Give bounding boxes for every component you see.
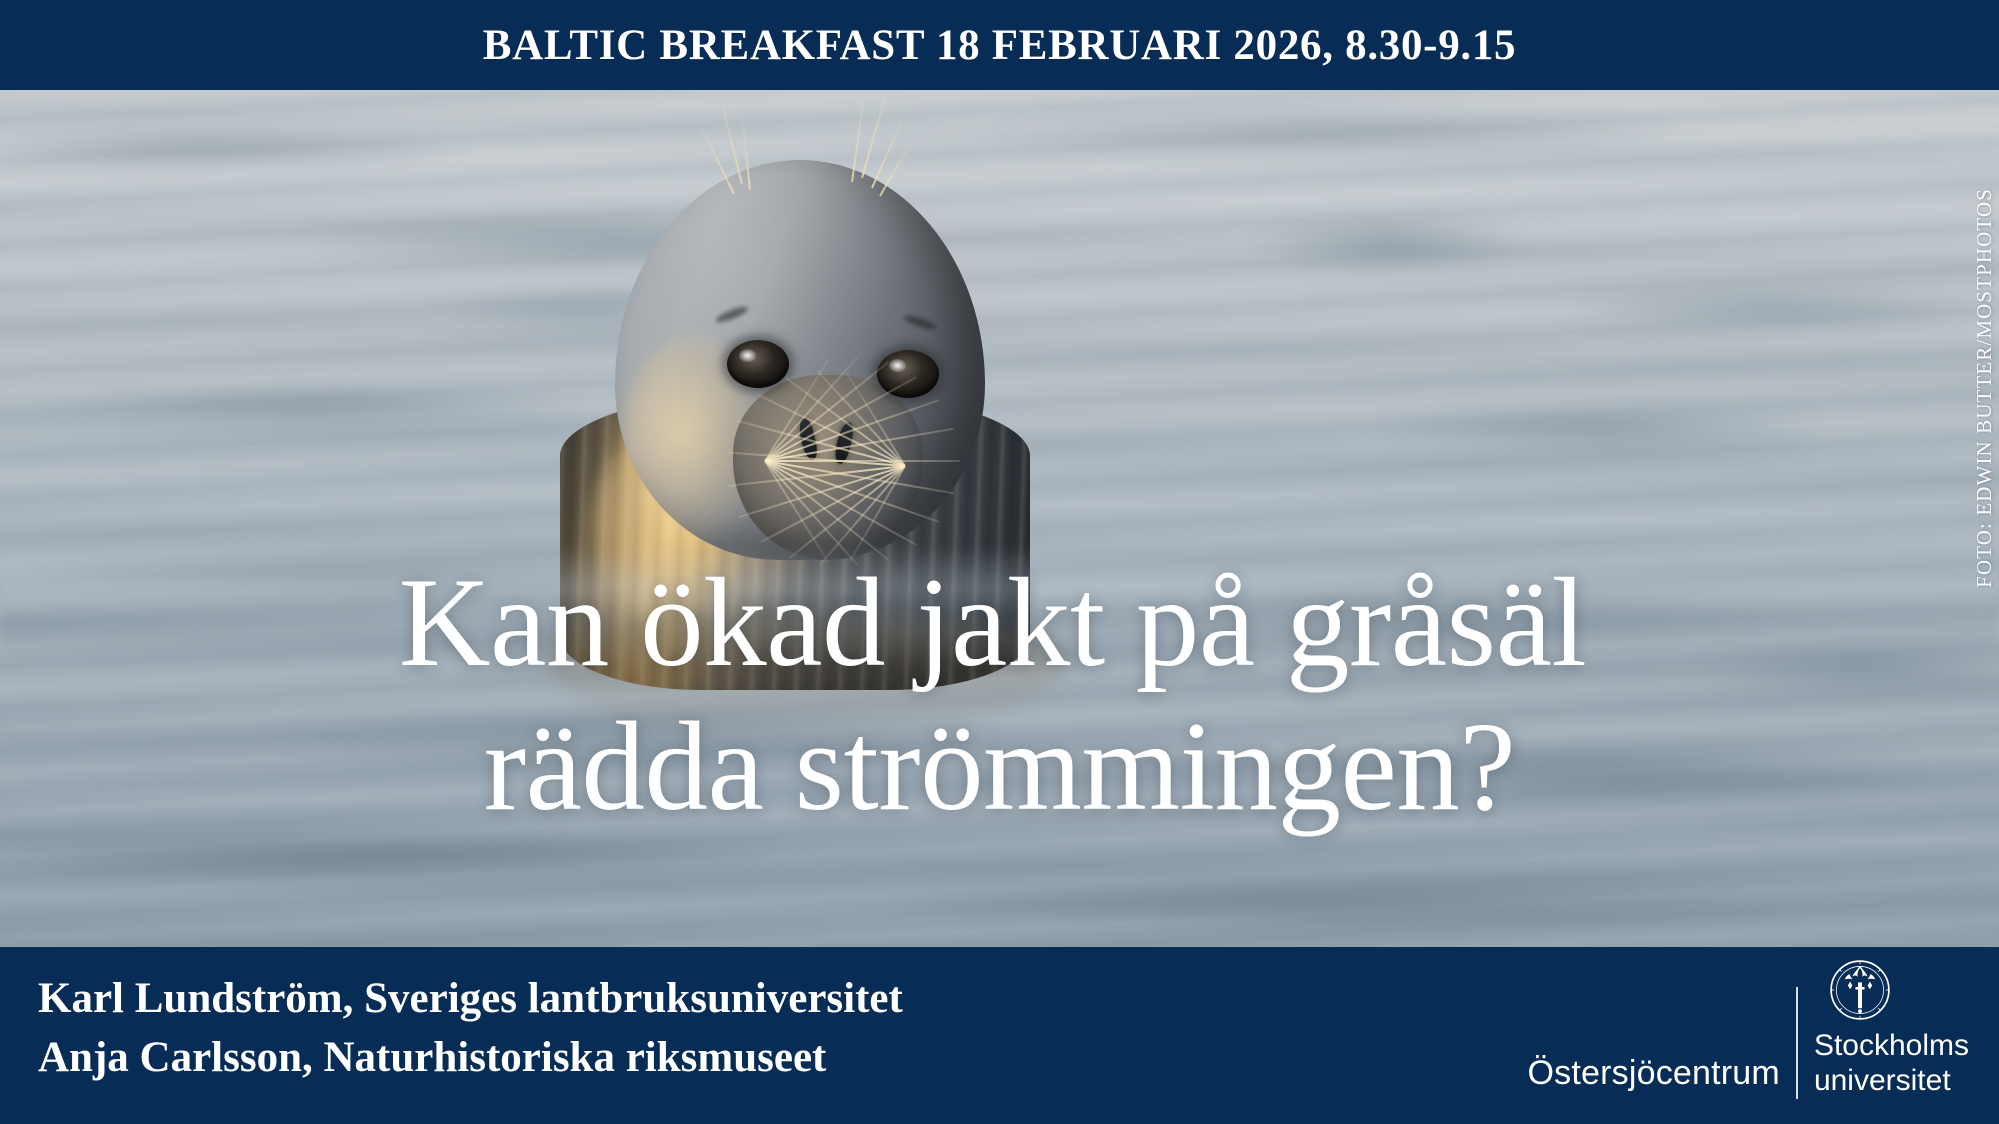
seal-head-hair — [879, 144, 911, 197]
seal-eye-left — [727, 340, 789, 388]
event-header-bar: BALTIC BREAKFAST 18 FEBRUARI 2026, 8.30-… — [0, 0, 1999, 90]
seal-head-hair — [742, 120, 751, 190]
water-wave-trough — [1380, 410, 1820, 448]
seal-head-hair — [861, 90, 890, 178]
ostersjocentrum-wordmark: Östersjöcentrum — [1528, 1054, 1780, 1105]
university-name-line-2: universitet — [1814, 1065, 1951, 1097]
seal-eye-right — [877, 350, 939, 398]
photo-credit-text: FOTO: EDWIN BUTTER/MOSTPHOTOS — [1972, 188, 1997, 588]
speaker-item: Anja Carlsson, Naturhistoriska riksmusee… — [38, 1028, 903, 1087]
university-name-line-1: Stockholms — [1814, 1030, 1969, 1062]
water-wave-trough — [980, 110, 1680, 148]
seal-eye-glint — [889, 359, 906, 372]
university-seal-icon — [1822, 952, 1898, 1028]
seal-brow-left — [715, 304, 750, 325]
logo-group: Östersjöcentrum — [1528, 965, 1969, 1105]
photo-credit: FOTO: EDWIN BUTTER/MOSTPHOTOS — [1972, 188, 1997, 588]
page-title: Kan ökad jakt på gråsäl rädda strömminge… — [0, 552, 1999, 839]
seal-eye-glint — [739, 349, 756, 362]
event-header-text: BALTIC BREAKFAST 18 FEBRUARI 2026, 8.30-… — [483, 21, 1517, 70]
speaker-item: Karl Lundström, Sveriges lantbruksuniver… — [38, 969, 903, 1028]
logo-divider — [1796, 987, 1798, 1099]
hero-photo: Kan ökad jakt på gråsäl rädda strömminge… — [0, 90, 1999, 947]
seal-brow-right — [902, 313, 937, 332]
stockholm-university-logo: Stockholms universitet — [1814, 952, 1969, 1105]
seal-head — [615, 160, 985, 560]
event-poster: BALTIC BREAKFAST 18 FEBRUARI 2026, 8.30-… — [0, 0, 1999, 1124]
water-wave-trough — [1260, 220, 1520, 266]
water-wave-trough — [900, 880, 1800, 932]
water-wave-trough — [60, 390, 580, 424]
speaker-list: Karl Lundström, Sveriges lantbruksuniver… — [38, 969, 903, 1088]
water-wave-trough — [1560, 290, 1980, 326]
footer-bar: Karl Lundström, Sveriges lantbruksuniver… — [0, 947, 1999, 1124]
page-title-line-2: rädda strömmingen? — [0, 696, 1999, 840]
page-title-line-1: Kan ökad jakt på gråsäl — [0, 552, 1999, 696]
